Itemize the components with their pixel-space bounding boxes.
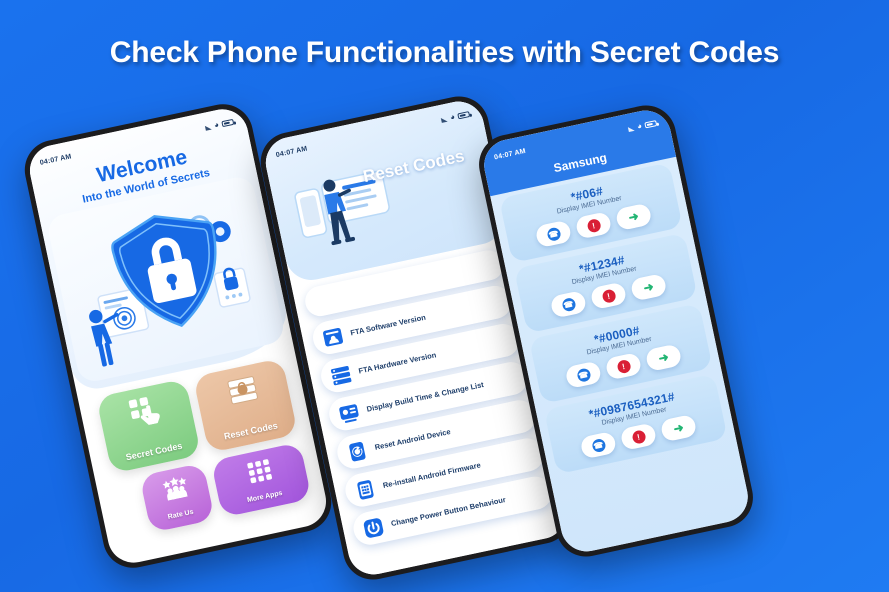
call-button[interactable]: ☎ <box>549 290 587 319</box>
folder-lock-icon <box>194 366 290 419</box>
app-grid-icon <box>212 450 307 497</box>
alert-icon: ! <box>616 359 631 374</box>
appbar-title: Samsung <box>552 150 608 175</box>
tile-label: More Apps <box>246 489 283 504</box>
share-button[interactable]: ➜ <box>660 414 698 443</box>
page-title: Check Phone Functionalities with Secret … <box>0 36 889 70</box>
firmware-icon <box>353 477 377 501</box>
alert-button[interactable]: ! <box>590 281 628 310</box>
share-arrow-icon: ➜ <box>642 280 654 294</box>
phone-call-icon: ☎ <box>591 437 606 452</box>
alert-button[interactable]: ! <box>605 352 643 381</box>
share-arrow-icon: ➜ <box>657 351 669 365</box>
reset-device-icon <box>345 439 369 463</box>
list-item-label: FTA Software Version <box>350 313 427 338</box>
share-arrow-icon: ➜ <box>672 421 684 435</box>
tile-reset-codes[interactable]: Reset Codes <box>193 358 298 453</box>
alert-icon: ! <box>601 288 616 303</box>
tile-more-apps[interactable]: More Apps <box>211 442 312 518</box>
alert-button[interactable]: ! <box>575 211 613 240</box>
list-item-label: Display Build Time & Change List <box>366 380 485 414</box>
list-item-label: Reset Android Device <box>374 427 451 452</box>
phone-call-icon: ☎ <box>576 367 591 382</box>
alert-icon: ! <box>631 429 646 444</box>
software-version-icon <box>321 325 345 349</box>
alert-icon: ! <box>586 218 601 233</box>
phone-call-icon: ☎ <box>546 226 561 241</box>
share-button[interactable]: ➜ <box>615 203 653 232</box>
list-item-label: FTA Hardware Version <box>358 350 437 375</box>
power-button-icon <box>362 516 386 540</box>
tile-rate-us[interactable]: Rate Us <box>139 463 215 533</box>
tile-secret-codes[interactable]: Secret Codes <box>96 378 201 473</box>
alert-button[interactable]: ! <box>620 422 658 451</box>
call-button[interactable]: ☎ <box>579 431 617 460</box>
share-button[interactable]: ➜ <box>630 273 668 302</box>
home-tiles-grid: Secret Codes Reset Codes <box>96 358 312 538</box>
build-time-icon <box>337 401 361 425</box>
hardware-version-icon <box>329 363 353 387</box>
list-item-label: Re-install Android Firmware <box>382 460 481 490</box>
phone-call-icon: ☎ <box>561 297 576 312</box>
tile-label: Secret Codes <box>125 441 183 462</box>
call-button[interactable]: ☎ <box>535 220 573 249</box>
share-arrow-icon: ➜ <box>627 210 639 224</box>
tile-label: Rate Us <box>167 508 194 521</box>
phone1-top-panel: Welcome Into the World of Secrets <box>25 105 294 394</box>
tile-label: Reset Codes <box>223 421 278 442</box>
tap-grid-icon <box>98 386 194 439</box>
share-button[interactable]: ➜ <box>645 343 683 372</box>
call-button[interactable]: ☎ <box>564 360 602 389</box>
phone2-title: Reset Codes <box>362 147 466 185</box>
stars-people-icon <box>141 470 210 510</box>
